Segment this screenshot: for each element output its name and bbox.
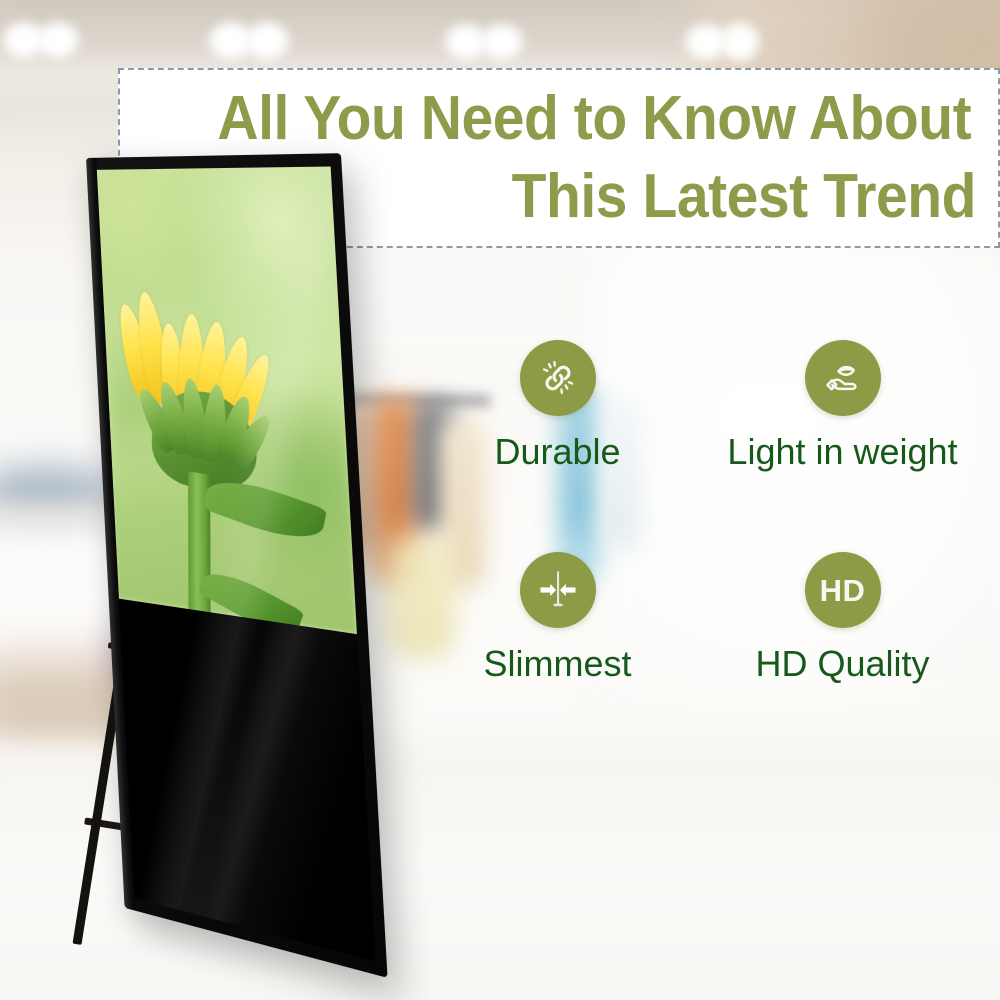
inward-arrows-thin-panel-icon <box>534 566 582 614</box>
spotlight <box>244 22 290 60</box>
feature-label: HD Quality <box>755 646 929 682</box>
display-screen-artwork <box>96 166 357 634</box>
hand-holding-leaf-icon <box>820 355 866 401</box>
feature-icon-badge: HD <box>805 552 881 628</box>
hd-text-icon: HD <box>820 575 866 606</box>
feature-item-durable[interactable]: Durable <box>420 340 695 528</box>
spotlight <box>480 24 524 60</box>
feature-item-light-in-weight[interactable]: Light in weight <box>705 340 980 528</box>
feature-grid: Durable <box>420 340 980 740</box>
spotlight <box>720 22 760 62</box>
product-photo <box>60 150 420 930</box>
signage-display <box>86 153 388 978</box>
feature-icon-badge <box>520 552 596 628</box>
feature-item-slimmest[interactable]: Slimmest <box>420 552 695 740</box>
feature-label: Light in weight <box>727 434 957 470</box>
feature-icon-badge <box>805 340 881 416</box>
feature-label: Durable <box>494 434 620 470</box>
chain-link-icon <box>536 356 580 400</box>
feature-icon-badge <box>520 340 596 416</box>
feature-item-hd-quality[interactable]: HD HD Quality <box>705 552 980 740</box>
headline-line-1: All You Need to Know About <box>212 80 976 158</box>
feature-label: Slimmest <box>483 646 631 682</box>
banner-canvas: All You Need to Know About This Latest T… <box>0 0 1000 1000</box>
spotlight <box>36 22 80 58</box>
